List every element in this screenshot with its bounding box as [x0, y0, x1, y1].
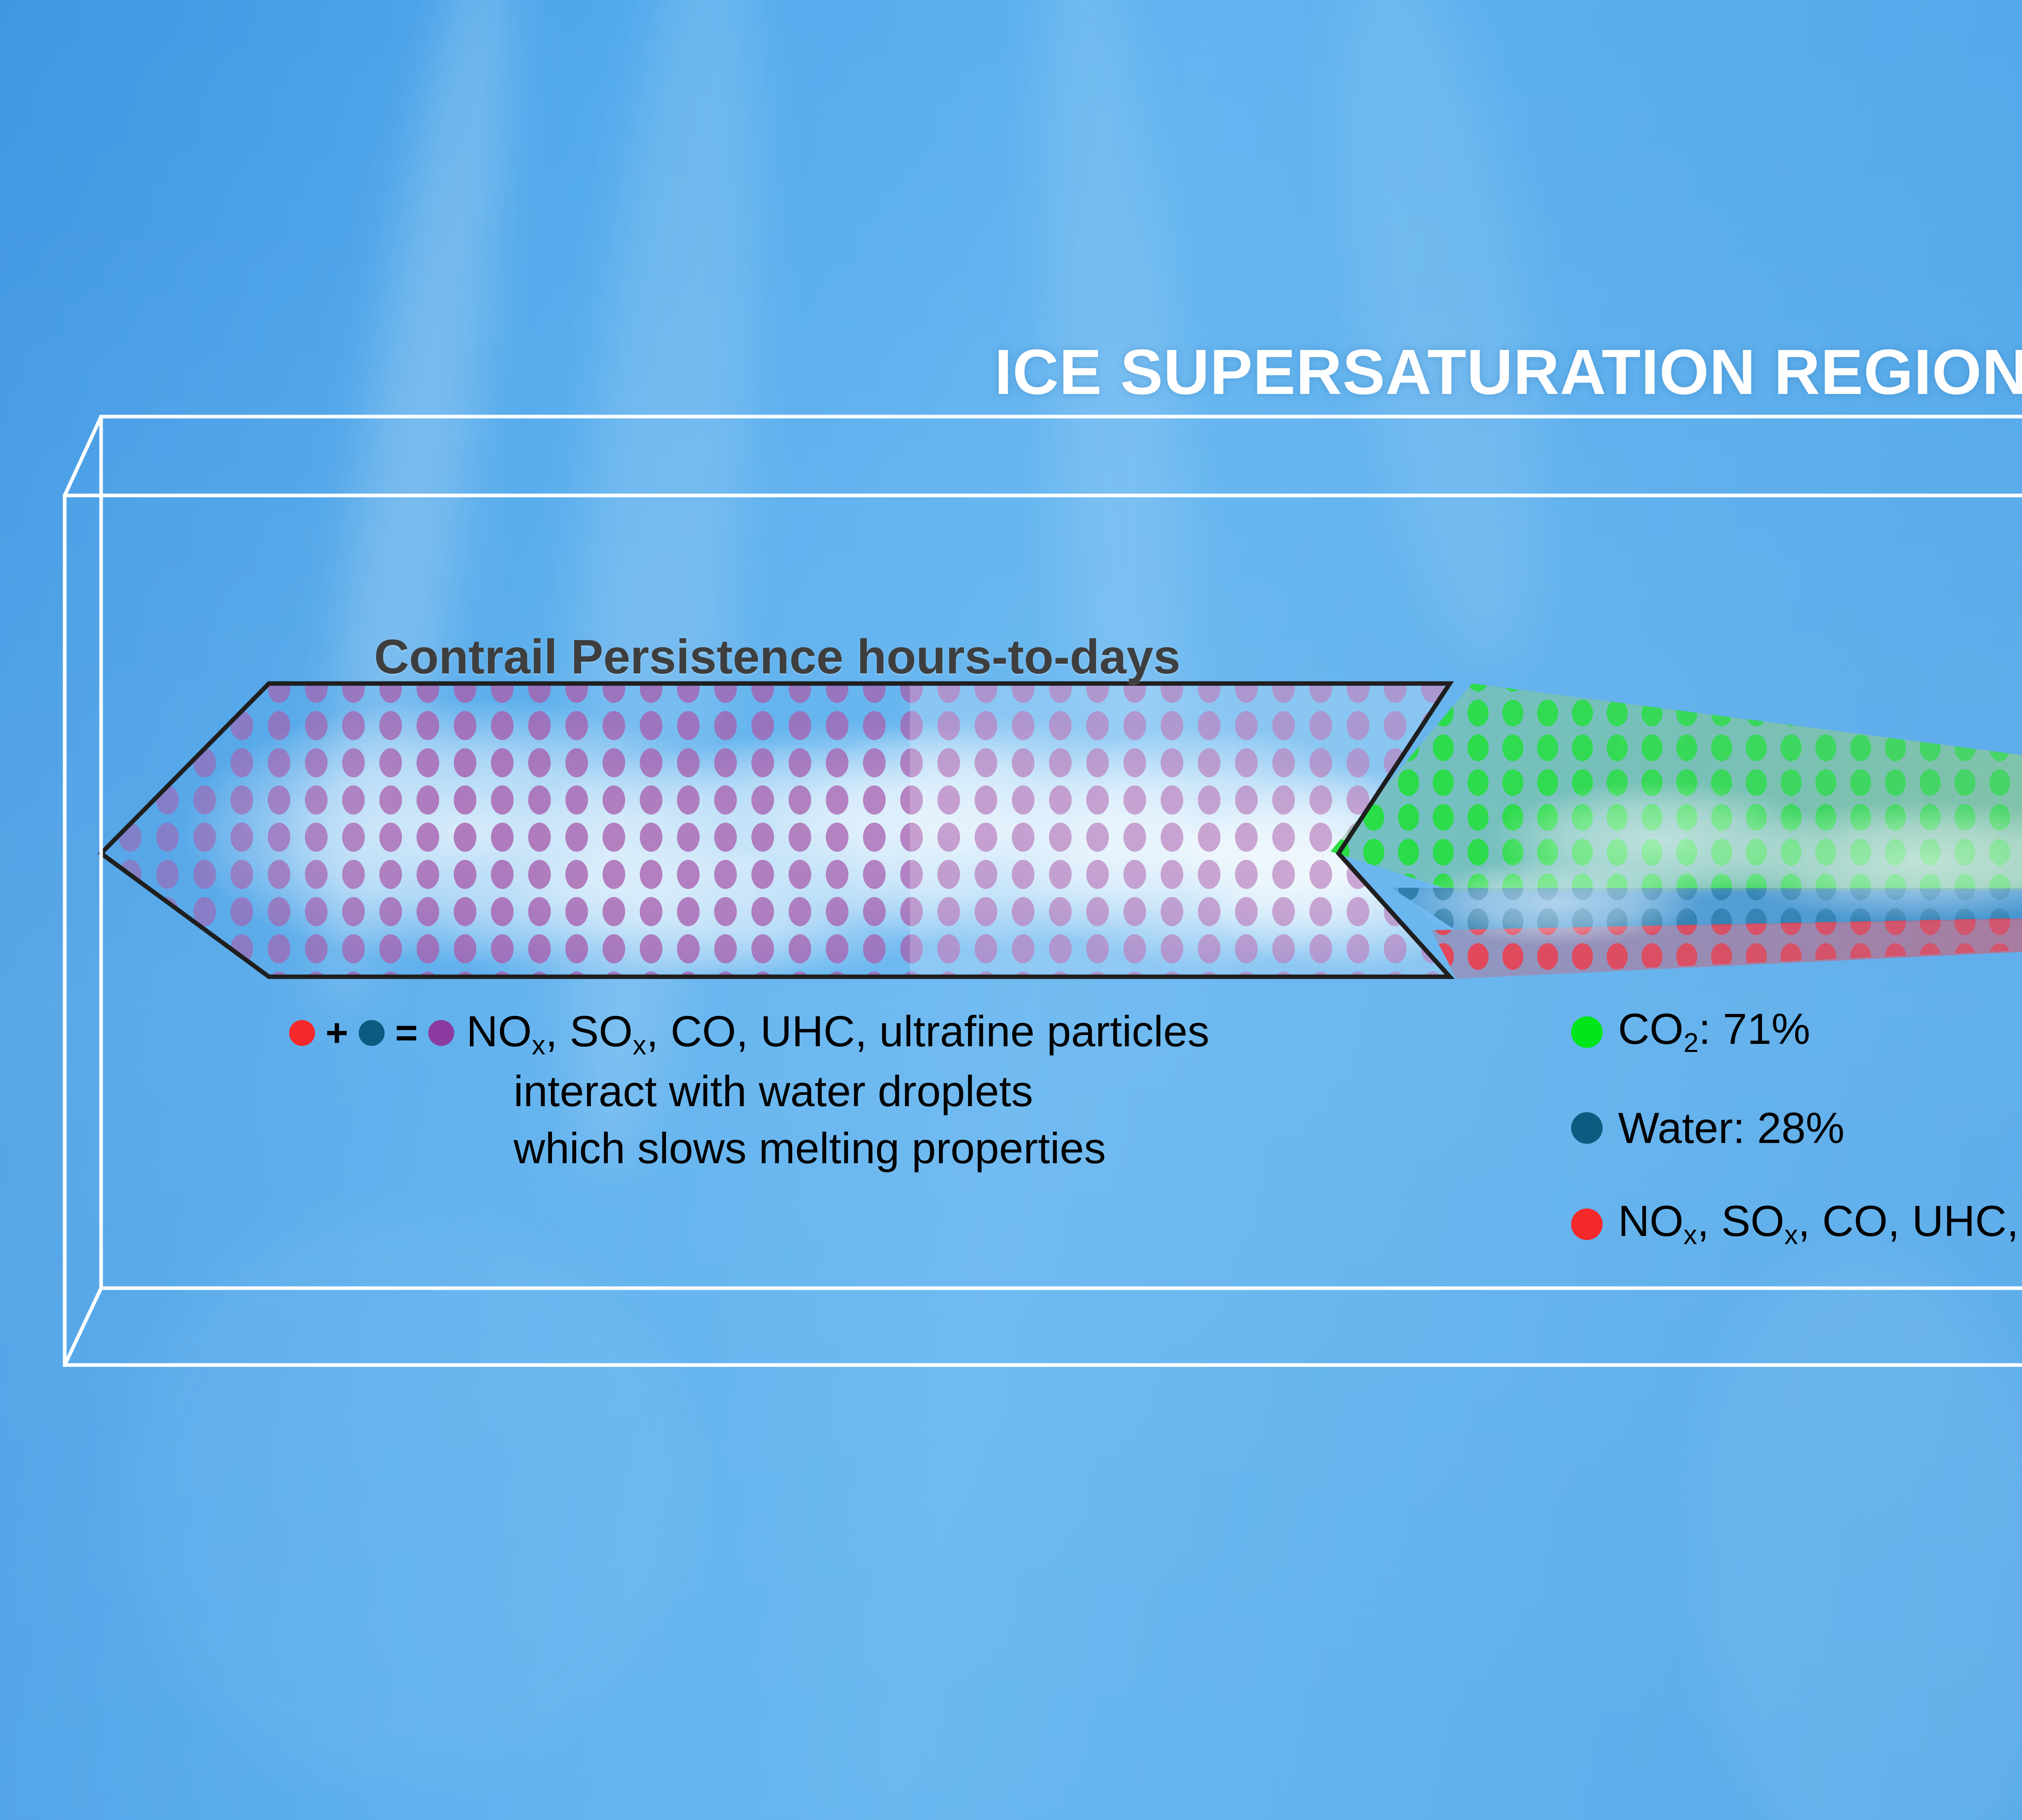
legend-label-nox: NOx, SOx, CO, UHC, ultrafine particles: …: [1618, 1199, 2022, 1249]
teal-dot-icon: [1571, 1112, 1603, 1144]
legend-item-nox: NOx, SOx, CO, UHC, ultrafine particles: …: [1571, 1199, 2022, 1249]
teal-dot-icon: [359, 1020, 385, 1046]
legend-item-co2: CO2: 71%: [1571, 1007, 2022, 1057]
equals-operator: =: [395, 1014, 418, 1052]
interaction-note: + = NOx, SOx, CO, UHC, ultrafine particl…: [289, 1003, 1523, 1177]
interaction-note-line-2: interact with water droplets: [514, 1063, 1523, 1120]
red-dot-icon: [289, 1020, 315, 1046]
page-title: ICE SUPERSATURATION REGION (ISSR): [0, 336, 2022, 409]
illustration-canvas: ICE SUPERSATURATION REGION (ISSR) Contra…: [0, 0, 2022, 1820]
green-dot-icon: [1571, 1016, 1603, 1048]
plus-operator: +: [326, 1014, 348, 1052]
interaction-note-line-1: + = NOx, SOx, CO, UHC, ultrafine particl…: [289, 1003, 1523, 1063]
interaction-note-line-3: which slows melting properties: [514, 1120, 1523, 1177]
composition-legend: CO2: 71% Water: 28% NOx, SOx, CO, UHC, u…: [1571, 1007, 2022, 1249]
red-dot-icon: [1571, 1208, 1603, 1240]
contrail-persistence-label: Contrail Persistence hours-to-days: [374, 629, 1180, 685]
legend-label-co2: CO2: 71%: [1618, 1007, 1810, 1057]
legend-item-water: Water: 28%: [1571, 1106, 2022, 1150]
contrail-persistence-region: [101, 684, 1516, 999]
legend-label-water: Water: 28%: [1618, 1106, 1844, 1150]
purple-dot-icon: [428, 1020, 454, 1046]
exhaust-plume-graphic: [0, 0, 2022, 1820]
interaction-species-list: NOx, SOx, CO, UHC, ultrafine particles: [466, 1003, 1209, 1063]
